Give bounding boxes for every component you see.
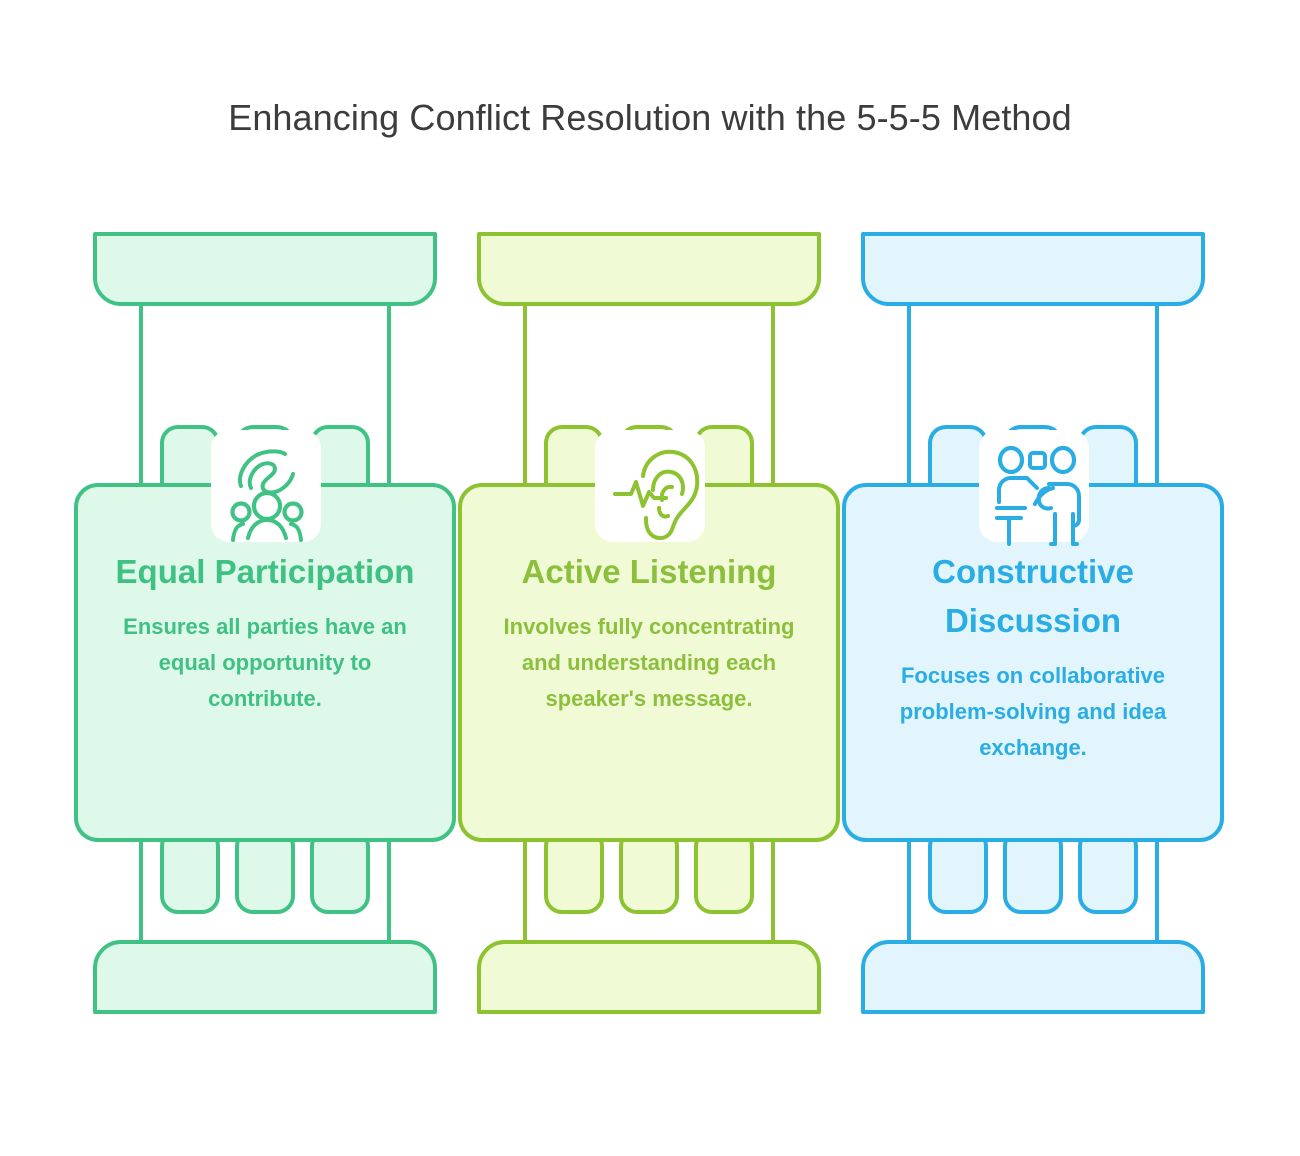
pillar-equal-participation[interactable]: Equal Participation Ensures all parties … <box>73 232 457 1022</box>
pillar-flute-bottom-left <box>162 832 218 912</box>
pillar-flute-bottom-right <box>696 832 752 912</box>
icon-badge <box>211 430 321 542</box>
pillar-flute-bottom-left <box>546 832 602 912</box>
pillar-flute-bottom-mid <box>621 832 677 912</box>
pillar-flute-bottom-mid <box>1005 832 1061 912</box>
pillar-constructive-discussion[interactable]: Constructive Discussion Focuses on colla… <box>841 232 1225 1022</box>
pillar-base <box>863 942 1203 1012</box>
pillars-row: Equal Participation Ensures all parties … <box>0 232 1300 1022</box>
pillar-base <box>479 942 819 1012</box>
pillar-flute-bottom-mid <box>237 832 293 912</box>
pillar-active-listening[interactable]: Active Listening Involves fully concentr… <box>457 232 841 1022</box>
pillar-graphic <box>73 232 457 1022</box>
pillar-capital <box>95 234 435 304</box>
infographic-canvas: Enhancing Conflict Resolution with the 5… <box>0 0 1300 1156</box>
pillar-flute-bottom-right <box>1080 832 1136 912</box>
page-title: Enhancing Conflict Resolution with the 5… <box>0 97 1300 139</box>
icon-badge <box>595 430 705 542</box>
pillar-flute-bottom-left <box>930 832 986 912</box>
pillar-base <box>95 942 435 1012</box>
pillar-capital <box>479 234 819 304</box>
pillar-flute-bottom-right <box>312 832 368 912</box>
pillar-graphic <box>457 232 841 1022</box>
pillar-graphic <box>841 232 1225 1022</box>
pillar-capital <box>863 234 1203 304</box>
